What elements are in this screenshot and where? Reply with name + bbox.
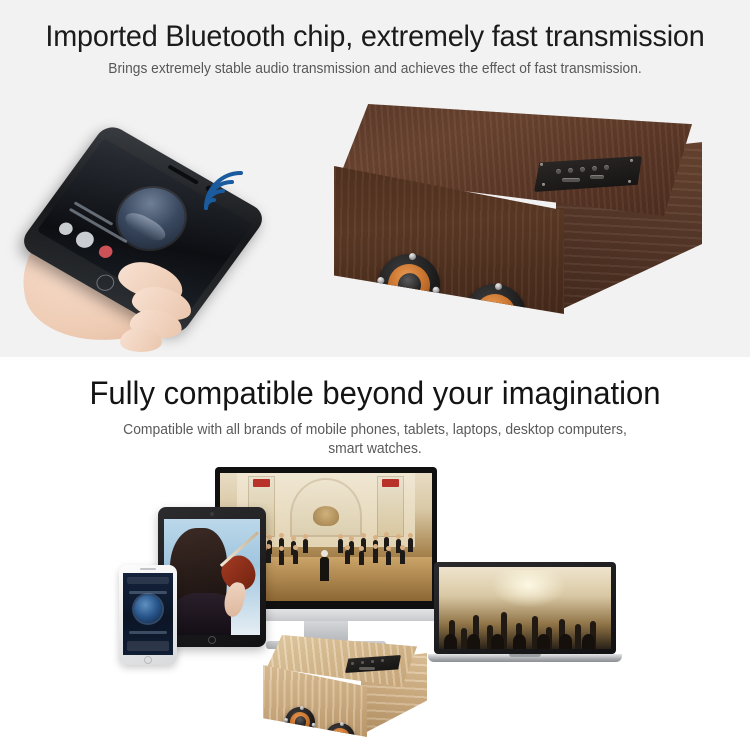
app-status-bar bbox=[127, 577, 169, 584]
subheadline-line-1: Compatible with all brands of mobile pho… bbox=[15, 421, 735, 440]
driver-screw bbox=[432, 286, 440, 294]
track-title-bar bbox=[129, 591, 167, 594]
finger-pinky bbox=[120, 328, 162, 352]
driver-screw bbox=[295, 733, 300, 738]
album-art-thumbnail bbox=[105, 176, 198, 260]
concert-crowd-photo bbox=[439, 567, 611, 649]
play-button-icon bbox=[73, 229, 98, 251]
speaker-driver-right bbox=[458, 278, 532, 352]
track-progress-bar bbox=[129, 631, 167, 634]
subheadline-line-2: smart watches. bbox=[15, 440, 735, 459]
tablet-camera-icon bbox=[210, 512, 214, 516]
laptop-device bbox=[434, 562, 616, 666]
driver-ring bbox=[458, 278, 532, 352]
smartphone-screen bbox=[123, 573, 173, 655]
bluetooth-wireless-waves-icon bbox=[200, 164, 252, 210]
driver-screw bbox=[311, 723, 316, 728]
section-two-headline: Fully compatible beyond your imagination bbox=[11, 375, 739, 412]
driver-screw bbox=[463, 306, 471, 314]
speaker-driver-right bbox=[322, 720, 358, 750]
album-art-disc bbox=[134, 595, 162, 623]
section-bluetooth-chip: Imported Bluetooth chip, extremely fast … bbox=[0, 0, 750, 357]
section-two-subheadline: Compatible with all brands of mobile pho… bbox=[15, 421, 735, 459]
smartphone-device bbox=[119, 565, 177, 665]
speaker-driver-left bbox=[372, 248, 446, 322]
wooden-bluetooth-speaker-dark bbox=[316, 104, 708, 354]
player-controls-bar bbox=[127, 641, 169, 651]
violinist-dress bbox=[174, 593, 232, 635]
section-one-subheadline: Brings extremely stable audio transmissi… bbox=[19, 61, 732, 77]
orchestra-conductor bbox=[320, 557, 329, 581]
laptop-lid-notch bbox=[509, 654, 541, 657]
raised-hands-silhouettes bbox=[439, 598, 611, 649]
smartphone-home-button bbox=[144, 656, 152, 664]
section-compatibility: Fully compatible beyond your imagination… bbox=[0, 357, 750, 750]
driver-screw bbox=[351, 739, 356, 744]
driver-screw bbox=[324, 734, 329, 739]
driver-screw bbox=[518, 316, 526, 324]
driver-dome bbox=[481, 301, 509, 330]
violinist-photo bbox=[164, 519, 260, 635]
section-one-headline: Imported Bluetooth chip, extremely fast … bbox=[15, 20, 735, 54]
wooden-bluetooth-speaker-light bbox=[253, 635, 433, 750]
driver-dome bbox=[333, 731, 347, 745]
favorite-icon bbox=[96, 243, 115, 260]
speaker-driver-left bbox=[282, 704, 318, 740]
previous-track-icon bbox=[56, 220, 75, 237]
tablet-home-button bbox=[208, 636, 216, 644]
compatible-devices-image bbox=[0, 467, 750, 750]
smartphone-earpiece bbox=[140, 568, 156, 570]
laptop-screen bbox=[434, 562, 616, 654]
hand-holding-smartphone-image bbox=[22, 152, 272, 357]
driver-screw bbox=[398, 309, 406, 317]
driver-screw bbox=[484, 339, 492, 347]
